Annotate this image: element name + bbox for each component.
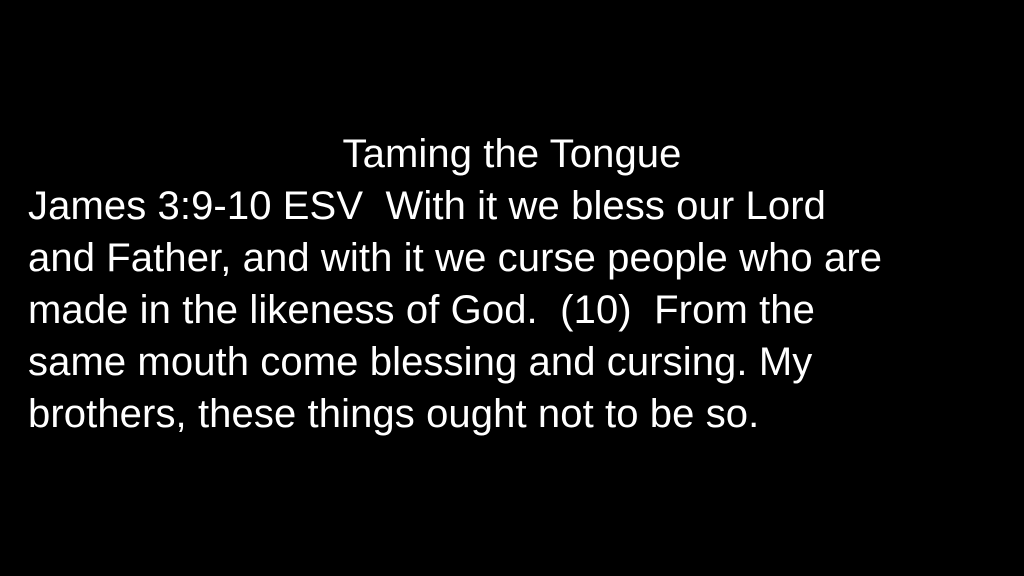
slide-body-line-2: and Father, and with it we curse people … [28,232,1010,284]
slide-title: Taming the Tongue [28,128,1010,180]
slide-body-line-5: brothers, these things ought not to be s… [28,388,1010,440]
slide-body-line-3: made in the likeness of God. (10) From t… [28,284,1010,336]
presentation-slide: Taming the Tongue James 3:9-10 ESV With … [0,0,1024,576]
slide-body-line-1: James 3:9-10 ESV With it we bless our Lo… [28,180,1010,232]
slide-text-block: Taming the Tongue James 3:9-10 ESV With … [0,128,1024,440]
slide-body-line-4: same mouth come blessing and cursing. My [28,336,1010,388]
